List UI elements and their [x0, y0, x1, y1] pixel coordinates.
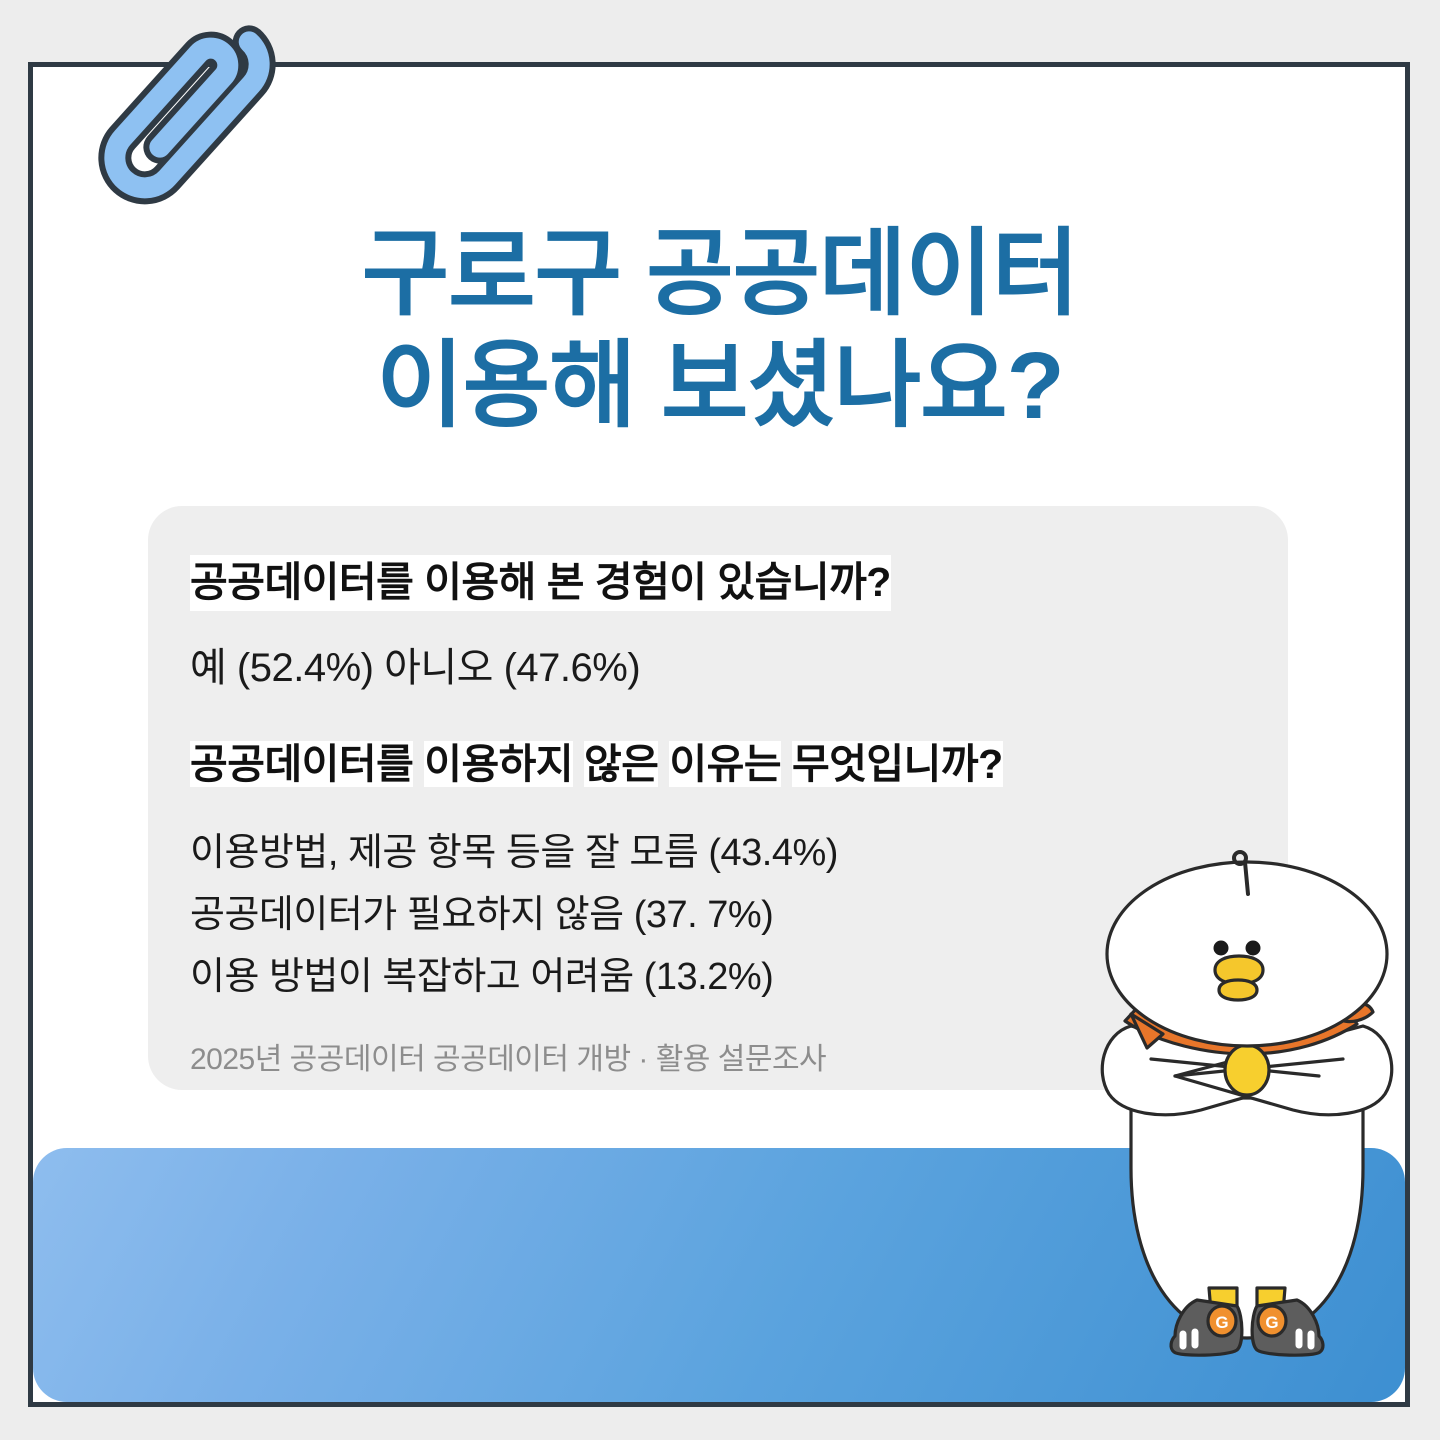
question-2-word: 무엇입니까? [792, 741, 1003, 787]
answer-line: 이용 방법이 복잡하고 어려움 (13.2%) [190, 946, 838, 1008]
answer-line: 공공데이터가 필요하지 않음 (37. 7%) [190, 884, 838, 946]
question-1-answers: 예 (52.4%) 아니오 (47.6%) [190, 637, 640, 699]
answer-line: 예 (52.4%) 아니오 (47.6%) [190, 637, 640, 699]
survey-card: 공공데이터를 이용해 본 경험이 있습니까? 예 (52.4%) 아니오 (47… [148, 506, 1288, 1090]
survey-source-row: 2025년 공공데이터 공공데이터 개방 · 활용 설문조사 [190, 1040, 826, 1080]
question-2-word: 공공데이터를 [190, 741, 413, 787]
question-1-row: 공공데이터를 이용해 본 경험이 있습니까? [190, 551, 891, 613]
poster-root: 구로구 공공데이터 이용해 보셨나요? 공공데이터를 이용해 본 경험이 있습니… [0, 0, 1440, 1440]
title-line-2: 이용해 보셨나요? [0, 330, 1440, 442]
question-1-text: 공공데이터를 이용해 본 경험이 있습니까? [190, 555, 891, 611]
question-2-word: 이유는 [669, 741, 781, 787]
answer-line: 이용방법, 제공 항목 등을 잘 모름 (43.4%) [190, 822, 838, 884]
question-2-word: 이용하지 [424, 741, 573, 787]
page-title: 구로구 공공데이터 이용해 보셨나요? [0, 218, 1440, 442]
title-line-1: 구로구 공공데이터 [0, 218, 1440, 330]
footer-band [33, 1148, 1405, 1402]
question-2-row: 공공데이터를 이용하지 않은 이유는 무엇입니까? [190, 733, 1003, 795]
question-2-answers: 이용방법, 제공 항목 등을 잘 모름 (43.4%) 공공데이터가 필요하지 … [190, 822, 838, 1008]
question-2-word: 않은 [584, 741, 658, 787]
survey-source-note: 2025년 공공데이터 공공데이터 개방 · 활용 설문조사 [190, 1040, 826, 1080]
question-2-text: 공공데이터를 이용하지 않은 이유는 무엇입니까? [190, 737, 1003, 793]
